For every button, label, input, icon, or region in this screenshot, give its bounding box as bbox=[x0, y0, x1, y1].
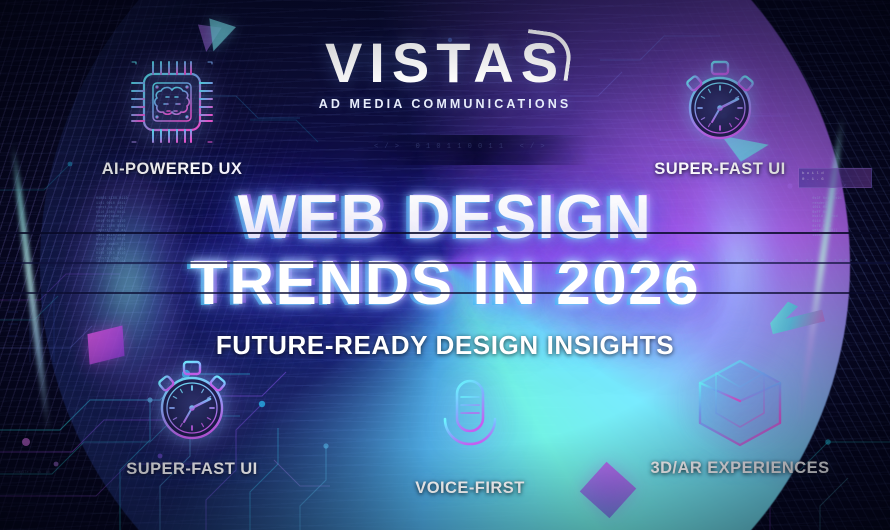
feature-super-fast-ui-bottom: SUPER-FAST UI bbox=[92, 352, 292, 479]
headline-block: WEB DESIGN TRENDS IN 2026 bbox=[0, 186, 890, 316]
headline-line-2: TRENDS IN 2026 bbox=[0, 252, 890, 316]
headline-subtitle: FUTURE-READY DESIGN INSIGHTS bbox=[0, 330, 890, 361]
feature-label: 3D/AR EXPERIENCES bbox=[640, 459, 840, 478]
stopwatch-icon bbox=[672, 52, 768, 152]
poster-canvas: 01001 1100 0110 1101 0010 1011 const ui … bbox=[0, 0, 890, 530]
hud-bar-label: < / > 0 1 0 1 1 0 0 1 1 < / > bbox=[374, 143, 546, 151]
feature-label: AI-POWERED UX bbox=[72, 160, 272, 179]
feature-label: SUPER-FAST UI bbox=[620, 160, 820, 179]
feature-label: SUPER-FAST UI bbox=[92, 460, 292, 479]
stopwatch-icon bbox=[144, 352, 240, 452]
feature-ai-powered-ux: AI-POWERED UX bbox=[72, 52, 272, 179]
logo-swoosh-icon bbox=[522, 29, 574, 81]
feature-super-fast-ui-top: SUPER-FAST UI bbox=[620, 52, 820, 179]
brain-chip-icon bbox=[122, 52, 222, 152]
hud-bar: < / > 0 1 0 1 1 0 0 1 1 < / > bbox=[360, 135, 590, 165]
logo-wordmark: VISTAS bbox=[325, 36, 565, 90]
headline-line-1: WEB DESIGN bbox=[0, 186, 890, 250]
feature-3d-ar-experiences: 3D/AR EXPERIENCES bbox=[640, 355, 840, 478]
microphone-icon bbox=[427, 375, 513, 471]
feature-label: VOICE-FIRST bbox=[370, 479, 570, 498]
feature-voice-first: VOICE-FIRST bbox=[370, 375, 570, 498]
wireframe-cube-icon bbox=[690, 355, 790, 451]
